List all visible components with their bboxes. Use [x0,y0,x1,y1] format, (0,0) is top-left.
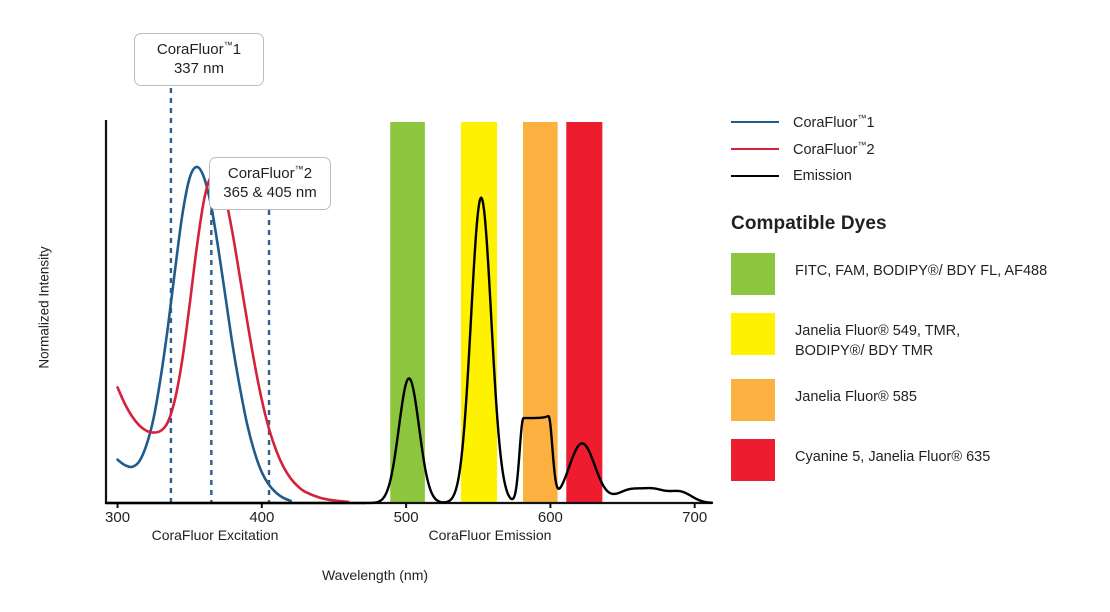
excitation-curve [118,174,349,502]
emission-region-label: CoraFluor Emission [380,527,600,543]
spectra-chart: Normalized Intensity Wavelength (nm) Cor… [0,0,740,612]
legend-line-swatch-corafluor-1 [731,121,779,123]
legend-label-corafluor-1: CoraFluor™1 [793,113,875,131]
dye-item-green: FITC, FAM, BODIPY®/ BDY FL, AF488 [731,253,1103,295]
x-tick-label: 400 [232,509,292,526]
excitation-curve [118,167,291,501]
dye-item-red: Cyanine 5, Janelia Fluor® 635 [731,439,1103,481]
callout-2-title: CoraFluor™2 [220,164,320,183]
callout-corafluor-1: CoraFluor™1 337 nm [134,33,264,86]
legend-item-corafluor-1: CoraFluor™1 [731,108,1103,135]
y-axis-label: Normalized Intensity [37,228,52,388]
legend-item-emission: Emission [731,162,1103,189]
excitation-region-label: CoraFluor Excitation [105,527,325,543]
callout-corafluor-2: CoraFluor™2 365 & 405 nm [209,157,331,210]
legend-line-swatch-emission [731,175,779,177]
dye-label-orange: Janelia Fluor® 585 [795,379,917,408]
emission-band [566,122,602,503]
dye-label-yellow-line1: Janelia Fluor® 549, TMR, [795,322,960,342]
dye-label-red-line1: Cyanine 5, Janelia Fluor® 635 [795,448,990,468]
dye-label-orange-line1: Janelia Fluor® 585 [795,388,917,408]
x-tick-label: 300 [88,509,148,526]
x-tick-label: 600 [520,509,580,526]
x-tick-label: 500 [376,509,436,526]
dye-label-yellow: Janelia Fluor® 549, TMR, BODIPY®/ BDY TM… [795,313,960,361]
legend-item-corafluor-2: CoraFluor™2 [731,135,1103,162]
legend: CoraFluor™1 CoraFluor™2 Emission Compati… [731,108,1103,481]
legend-line-swatch-corafluor-2 [731,148,779,150]
legend-label-corafluor-2: CoraFluor™2 [793,140,875,158]
compatible-dyes-heading: Compatible Dyes [731,213,1103,235]
dye-label-red: Cyanine 5, Janelia Fluor® 635 [795,439,990,468]
legend-label-emission: Emission [793,168,852,184]
callout-2-value: 365 & 405 nm [220,183,320,202]
dye-color-swatch-orange [731,379,775,421]
dye-label-green: FITC, FAM, BODIPY®/ BDY FL, AF488 [795,253,1047,282]
dye-label-yellow-line2: BODIPY®/ BDY TMR [795,342,960,362]
dye-item-yellow: Janelia Fluor® 549, TMR, BODIPY®/ BDY TM… [731,313,1103,361]
x-tick-label: 700 [665,509,725,526]
dye-color-swatch-green [731,253,775,295]
callout-1-title: CoraFluor™1 [145,40,253,59]
x-axis-label: Wavelength (nm) [275,567,475,583]
figure-root: Normalized Intensity Wavelength (nm) Cor… [0,0,1110,612]
callout-1-value: 337 nm [145,59,253,78]
dye-item-orange: Janelia Fluor® 585 [731,379,1103,421]
dye-color-swatch-yellow [731,313,775,355]
dye-label-green-line1: FITC, FAM, BODIPY®/ BDY FL, AF488 [795,262,1047,282]
dye-color-swatch-red [731,439,775,481]
